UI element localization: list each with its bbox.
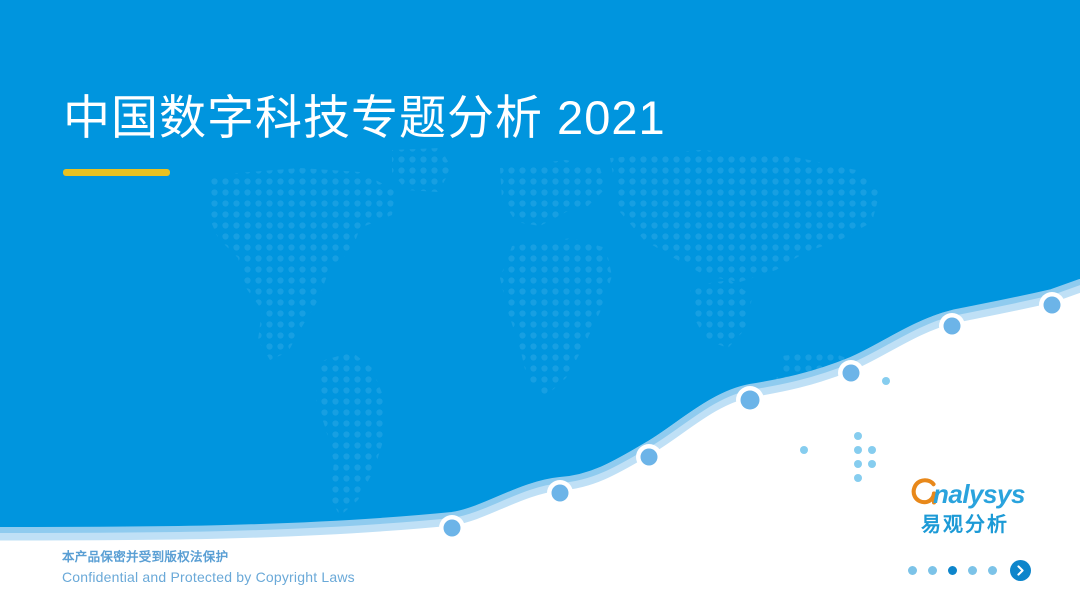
pager-dot-4[interactable] [968,566,977,575]
page-title: 中国数字科技专题分析 2021 [63,88,666,148]
analysys-wordmark: nalysys [900,478,1030,512]
title-accent-bar [63,169,170,176]
analysys-company-name: 易观分析 [900,513,1030,537]
confidentiality-note-cn: 本产品保密并受到版权法保护 [62,548,355,567]
analysys-logo: nalysys 易观分析 [900,478,1030,537]
pager-dot-5[interactable] [988,566,997,575]
svg-text:nalysys: nalysys [933,479,1025,509]
pager-dot-3[interactable] [948,566,957,575]
next-slide-button[interactable] [1010,560,1031,581]
title-block: 中国数字科技专题分析 2021 [63,88,666,176]
confidentiality-note: 本产品保密并受到版权法保护 Confidential and Protected… [62,548,355,587]
confidentiality-note-en: Confidential and Protected by Copyright … [62,567,355,587]
pager-dot-1[interactable] [908,566,917,575]
slide-pager[interactable] [908,560,1031,581]
chevron-right-icon [1015,565,1026,576]
pager-dot-2[interactable] [928,566,937,575]
presentation-slide: 中国数字科技专题分析 2021 本产品保密并受到版权法保护 Confidenti… [0,0,1080,608]
